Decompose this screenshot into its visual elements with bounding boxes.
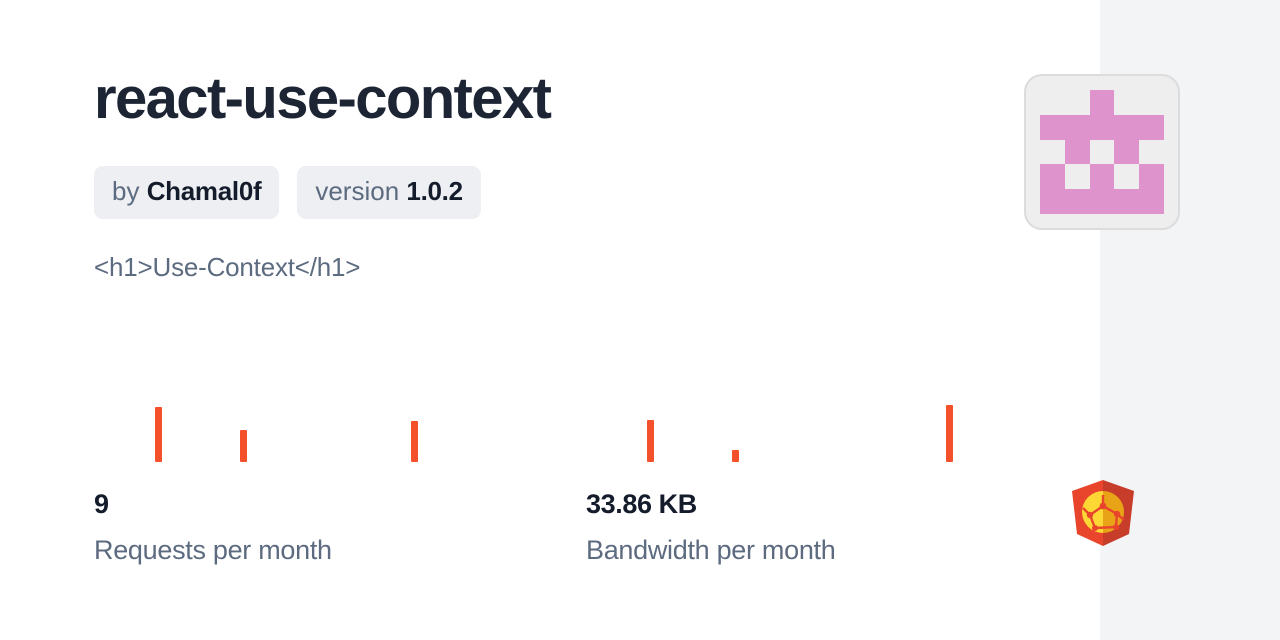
identicon-cell-2-0 xyxy=(1040,140,1065,165)
identicon-cell-3-0 xyxy=(1040,164,1065,189)
sparkline-bar xyxy=(411,421,418,462)
identicon-cell-3-1 xyxy=(1065,164,1090,189)
stat-bandwidth: 33.86 KB Bandwidth per month xyxy=(586,400,1056,567)
stat-requests: 9 Requests per month xyxy=(94,400,564,567)
identicon-cell-4-0 xyxy=(1040,189,1065,214)
identicon-cell-3-3 xyxy=(1114,164,1139,189)
identicon-cell-2-2 xyxy=(1090,140,1115,165)
requests-sparkline-chart xyxy=(94,400,564,462)
page-title: react-use-context xyxy=(94,66,550,133)
author-name: Chamal0f xyxy=(147,176,262,206)
identicon-cell-2-4 xyxy=(1139,140,1164,165)
identicon-cell-2-1 xyxy=(1065,140,1090,165)
requests-label: Requests per month xyxy=(94,534,564,566)
avatar xyxy=(1024,74,1180,230)
jsdelivr-logo-icon xyxy=(1070,478,1136,548)
identicon-cell-4-2 xyxy=(1090,189,1115,214)
identicon-cell-0-0 xyxy=(1040,90,1065,115)
author-badge: by Chamal0f xyxy=(94,166,279,219)
package-description: <h1>Use-Context</h1> xyxy=(94,252,360,283)
identicon-cell-2-3 xyxy=(1114,140,1139,165)
author-prefix-label: by xyxy=(112,176,139,206)
identicon-cell-4-3 xyxy=(1114,189,1139,214)
version-number: 1.0.2 xyxy=(406,176,462,206)
bandwidth-value: 33.86 KB xyxy=(586,488,1056,520)
identicon-cell-4-4 xyxy=(1139,189,1164,214)
identicon-cell-1-4 xyxy=(1139,115,1164,140)
identicon-cell-1-3 xyxy=(1114,115,1139,140)
identicon-cell-1-1 xyxy=(1065,115,1090,140)
identicon-cell-0-4 xyxy=(1139,90,1164,115)
sparkline-bar xyxy=(732,450,739,462)
version-badge: version 1.0.2 xyxy=(297,166,480,219)
bandwidth-sparkline-chart xyxy=(586,400,1056,462)
identicon-cell-0-2 xyxy=(1090,90,1115,115)
identicon-cell-0-1 xyxy=(1065,90,1090,115)
identicon-cell-1-0 xyxy=(1040,115,1065,140)
sparkline-bar xyxy=(647,420,654,462)
bandwidth-label: Bandwidth per month xyxy=(586,534,1056,566)
version-prefix-label: version xyxy=(315,176,399,206)
package-card: react-use-context by Chamal0f version 1.… xyxy=(0,0,1100,640)
requests-value: 9 xyxy=(94,488,564,520)
sparkline-bar xyxy=(240,430,247,462)
identicon-cell-3-2 xyxy=(1090,164,1115,189)
identicon-cell-1-2 xyxy=(1090,115,1115,140)
sparkline-bar xyxy=(155,407,162,462)
identicon-grid xyxy=(1040,90,1164,214)
identicon-cell-0-3 xyxy=(1114,90,1139,115)
sparkline-bar xyxy=(946,405,953,462)
identicon-cell-3-4 xyxy=(1139,164,1164,189)
meta-badge-row: by Chamal0f version 1.0.2 xyxy=(94,166,481,219)
identicon-cell-4-1 xyxy=(1065,189,1090,214)
